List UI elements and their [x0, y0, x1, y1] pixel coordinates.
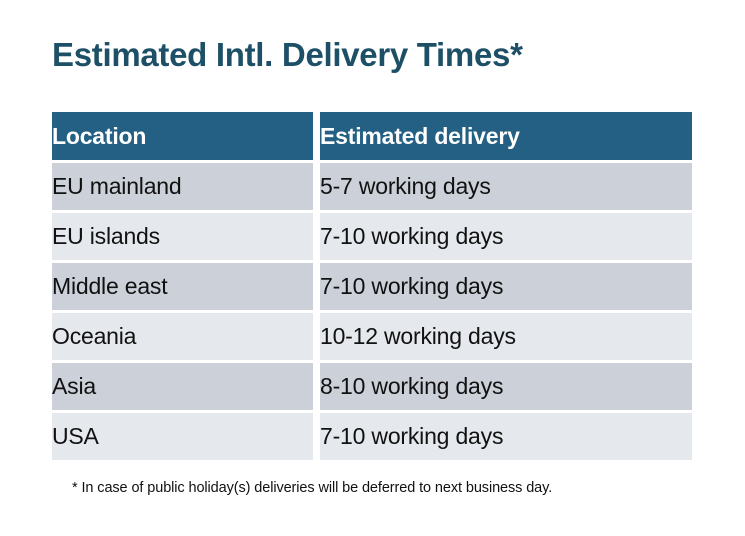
- column-header-location: Location: [52, 112, 313, 160]
- page-title: Estimated Intl. Delivery Times*: [52, 36, 523, 74]
- column-separator: [313, 413, 320, 460]
- footnote: * In case of public holiday(s) deliverie…: [72, 480, 552, 496]
- column-separator: [313, 163, 320, 210]
- estimated-delivery-table: Location Estimated delivery EU mainland …: [52, 112, 692, 460]
- delivery-times-card: Estimated Intl. Delivery Times* Location…: [0, 0, 745, 536]
- table-row: Asia 8-10 working days: [52, 363, 692, 410]
- cell-delivery: 8-10 working days: [320, 363, 692, 410]
- cell-delivery: 7-10 working days: [320, 413, 692, 460]
- cell-delivery: 5-7 working days: [320, 163, 692, 210]
- cell-location: Asia: [52, 363, 313, 410]
- table-row: EU islands 7-10 working days: [52, 213, 692, 260]
- cell-location: USA: [52, 413, 313, 460]
- table-row: Middle east 7-10 working days: [52, 263, 692, 310]
- table-header-row: Location Estimated delivery: [52, 112, 692, 160]
- column-separator: [313, 213, 320, 260]
- cell-location: Oceania: [52, 313, 313, 360]
- cell-delivery: 7-10 working days: [320, 263, 692, 310]
- column-separator: [313, 313, 320, 360]
- column-separator: [313, 112, 320, 160]
- cell-delivery: 7-10 working days: [320, 213, 692, 260]
- column-separator: [313, 263, 320, 310]
- cell-delivery: 10-12 working days: [320, 313, 692, 360]
- cell-location: EU mainland: [52, 163, 313, 210]
- table-row: Oceania 10-12 working days: [52, 313, 692, 360]
- cell-location: EU islands: [52, 213, 313, 260]
- table-row: EU mainland 5-7 working days: [52, 163, 692, 210]
- table-row: USA 7-10 working days: [52, 413, 692, 460]
- column-separator: [313, 363, 320, 410]
- column-header-estimated-delivery: Estimated delivery: [320, 112, 692, 160]
- cell-location: Middle east: [52, 263, 313, 310]
